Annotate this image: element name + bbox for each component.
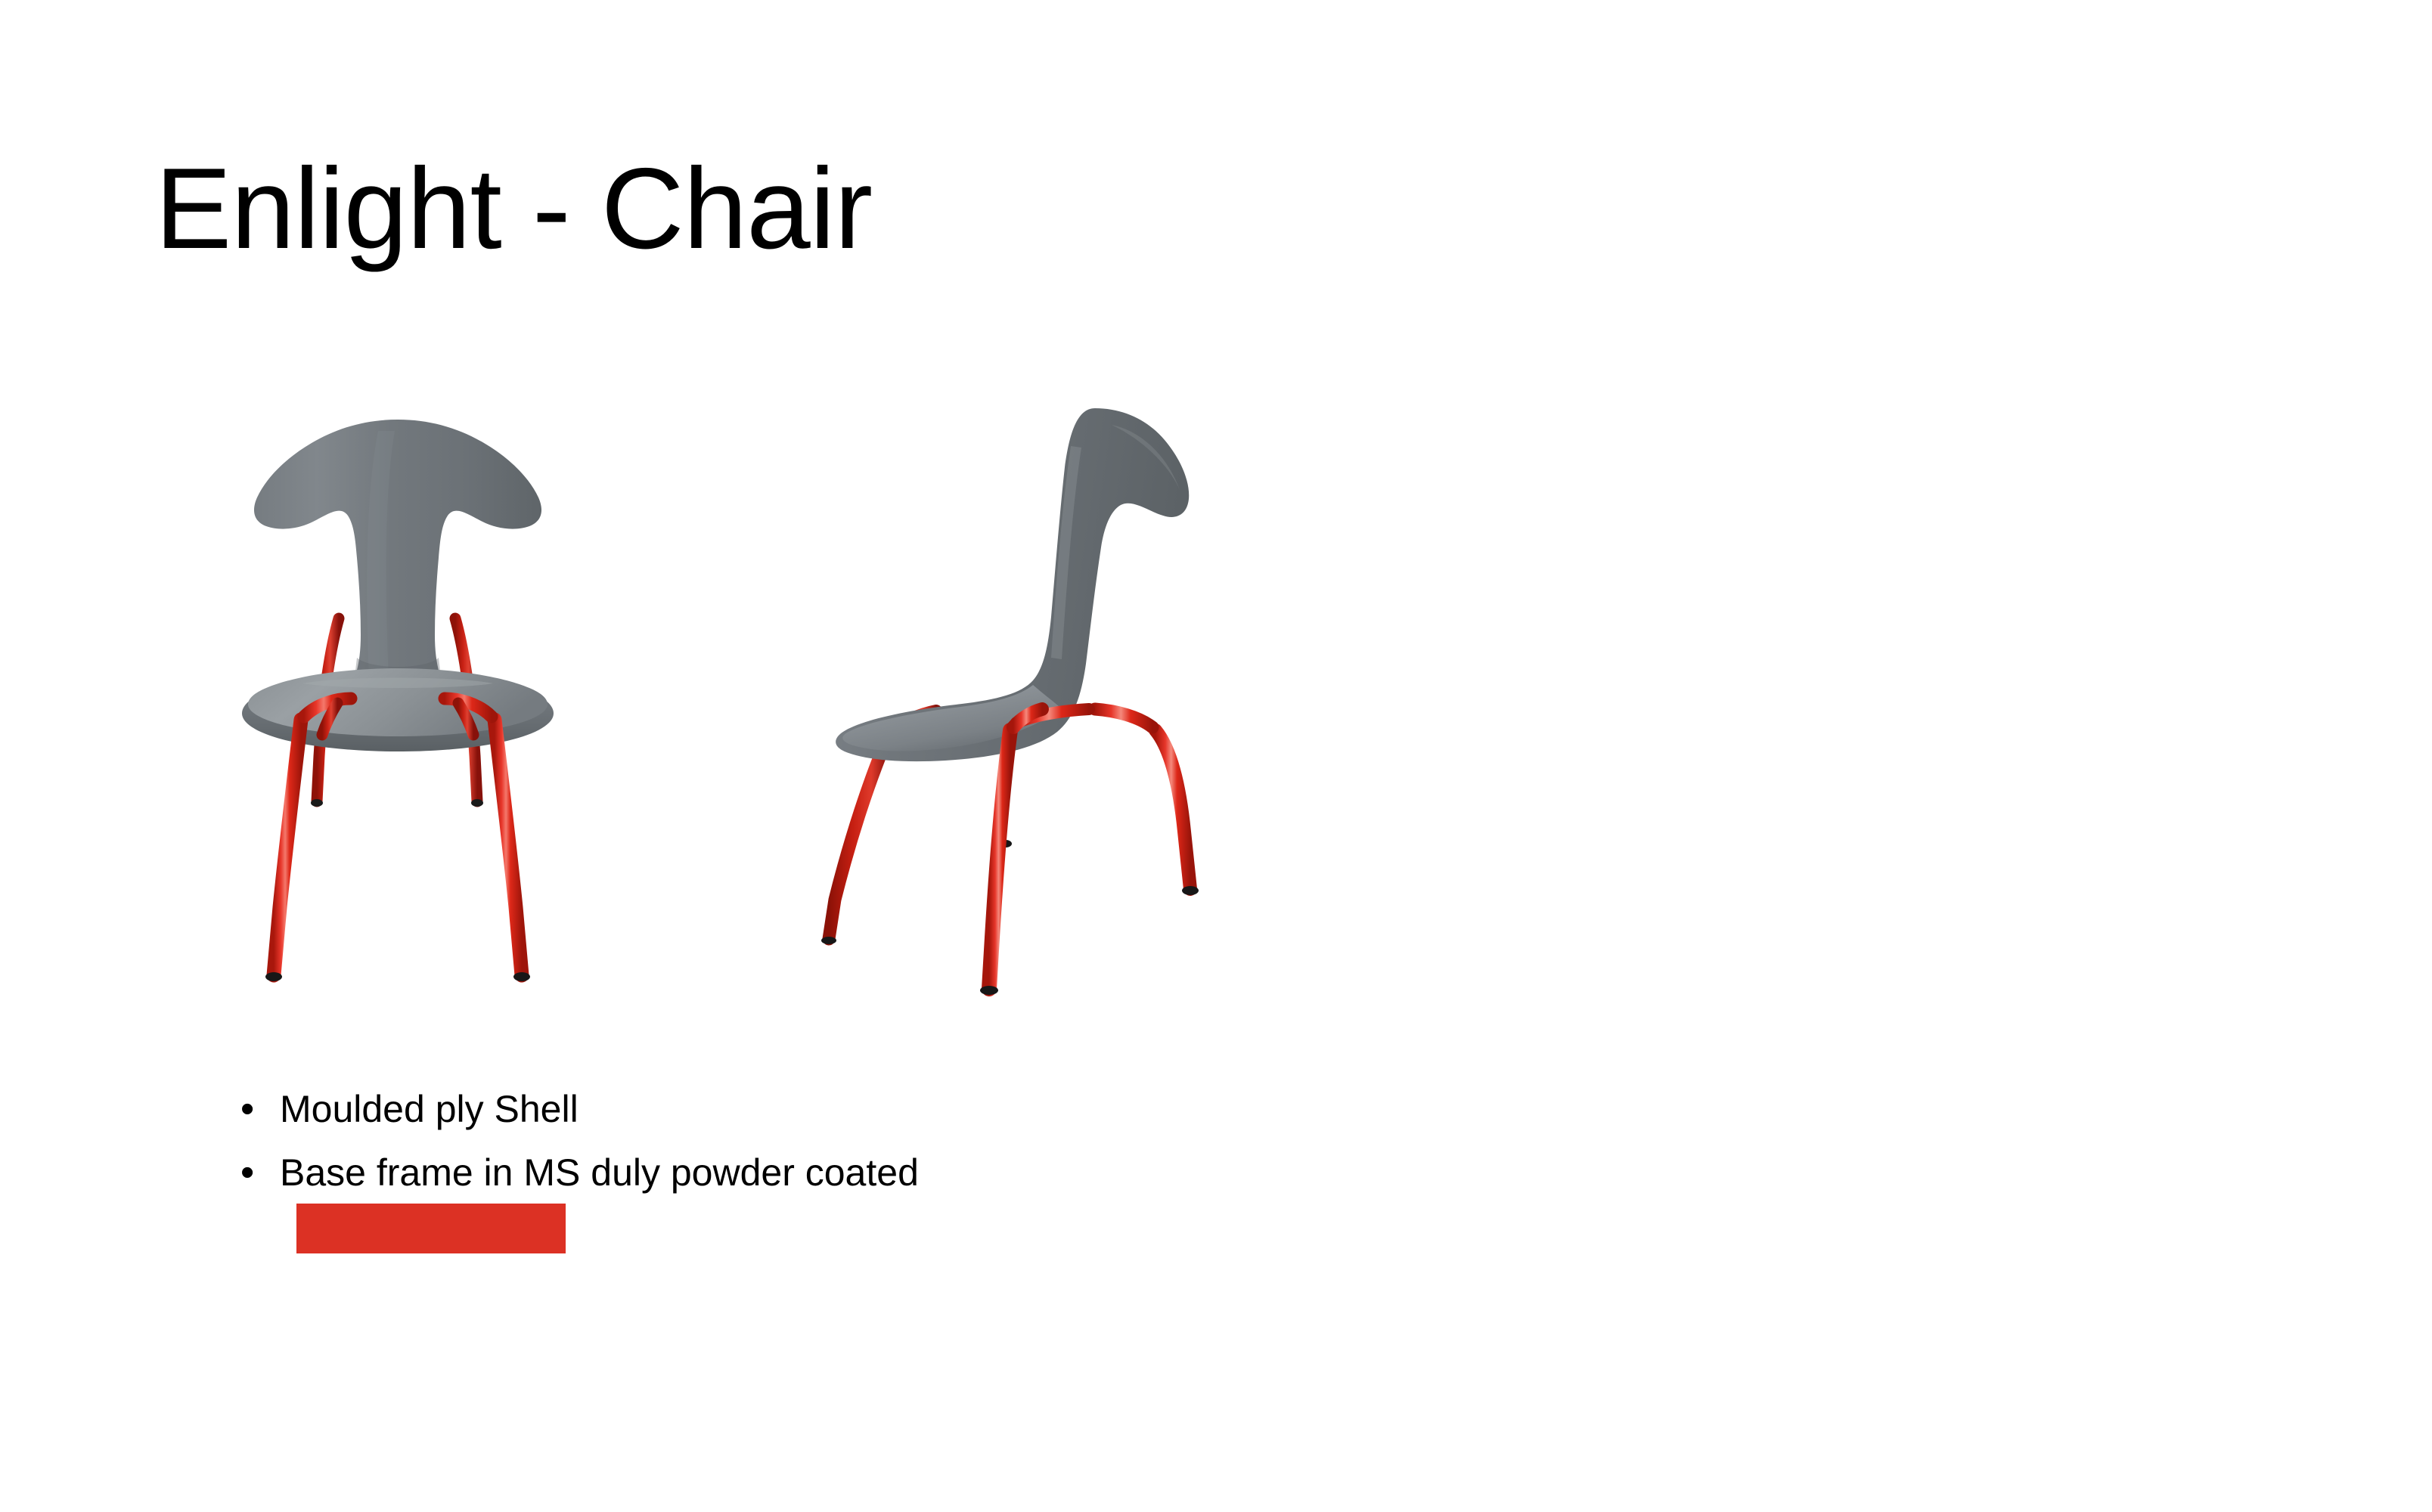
list-item: • Moulded ply Shell	[227, 1086, 1512, 1132]
frame-colour-swatch	[296, 1204, 566, 1253]
chair-side-shell	[836, 408, 1189, 761]
chair-side-view-image	[756, 378, 1270, 1043]
chair-front-view-image	[189, 378, 613, 1043]
slide-canvas: Enlight - Chair	[0, 0, 2432, 1512]
bullet-text: Moulded ply Shell	[280, 1086, 579, 1132]
page-title: Enlight - Chair	[155, 151, 872, 266]
bullet-point-icon: •	[227, 1149, 280, 1196]
chair-front-seat	[242, 668, 554, 751]
list-item: • Base frame in MS duly powder coated	[227, 1149, 1512, 1196]
chair-front-shell	[254, 420, 541, 683]
feature-bullet-list: • Moulded ply Shell • Base frame in MS d…	[227, 1086, 1512, 1213]
bullet-text: Base frame in MS duly powder coated	[280, 1149, 919, 1196]
bullet-point-icon: •	[227, 1086, 280, 1132]
chair-gallery	[159, 378, 1308, 1043]
